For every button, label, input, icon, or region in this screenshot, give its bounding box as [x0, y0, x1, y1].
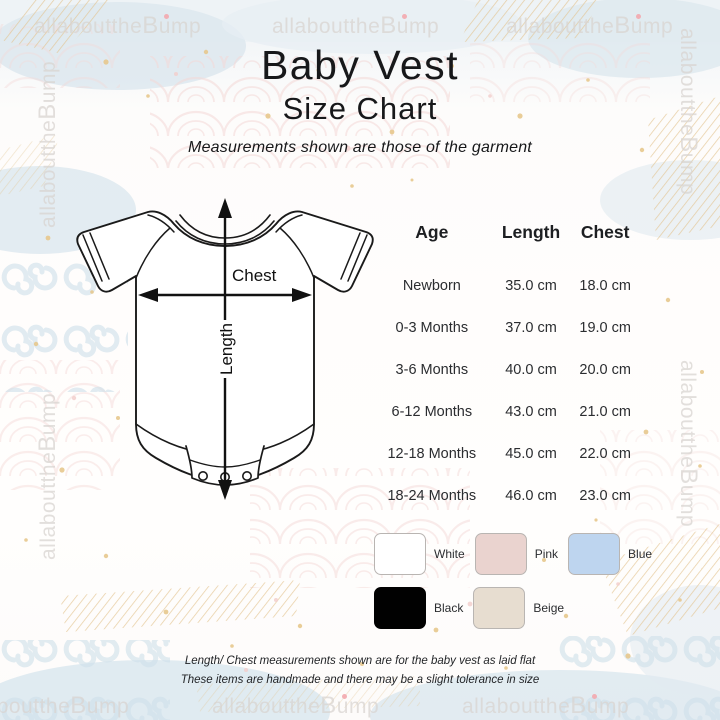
cell-length: 43.0 cm: [492, 391, 571, 433]
cell-length: 46.0 cm: [492, 475, 571, 517]
swatch-blue: Blue: [568, 533, 652, 575]
watermark-bottom-center: allabouttheBump: [212, 692, 379, 720]
vest-diagram: Chest Length: [70, 188, 380, 508]
chart-header: Baby Vest Size Chart Measurements shown …: [0, 44, 720, 157]
measurement-note: Measurements shown are those of the garm…: [0, 139, 720, 157]
swatch-black: Black: [374, 587, 463, 629]
swatch-box-beige: [473, 587, 525, 629]
cell-chest: 23.0 cm: [570, 475, 640, 517]
watermark-heart-icon: [342, 694, 347, 699]
length-label: Length: [216, 320, 238, 378]
cell-chest: 21.0 cm: [570, 391, 640, 433]
cell-chest: 22.0 cm: [570, 433, 640, 475]
watermark-heart-icon: [636, 14, 641, 19]
cell-length: 35.0 cm: [492, 265, 571, 307]
watermark-bottom-right: allabouttheBump: [462, 692, 629, 720]
watermark-top-center: allabouttheBump: [272, 12, 439, 40]
cell-length: 37.0 cm: [492, 307, 571, 349]
cell-length: 45.0 cm: [492, 433, 571, 475]
cell-age: 6-12 Months: [372, 391, 492, 433]
swatch-beige: Beige: [473, 587, 564, 629]
cell-age: 12-18 Months: [372, 433, 492, 475]
watermark-heart-icon: [164, 14, 169, 19]
swatch-box-white: [374, 533, 426, 575]
footer-line-1: Length/ Chest measurements shown are for…: [0, 652, 720, 671]
chest-label: Chest: [232, 266, 276, 286]
column-header-age: Age: [372, 222, 492, 265]
swatch-white: White: [374, 533, 465, 575]
cell-age: 18-24 Months: [372, 475, 492, 517]
swatch-row-2: Black Beige: [374, 587, 674, 629]
column-header-length: Length: [492, 222, 571, 265]
swatch-row-1: White Pink Blue: [374, 533, 674, 575]
swatch-label-white: White: [434, 547, 465, 561]
table-row: 18-24 Months 46.0 cm 23.0 cm: [372, 475, 640, 517]
footer-line-2: These items are handmade and there may b…: [0, 671, 720, 690]
watermark-heart-icon: [402, 14, 407, 19]
swatch-label-pink: Pink: [535, 547, 558, 561]
watermark-top-left: allabouttheBump: [34, 12, 201, 40]
swatch-box-black: [374, 587, 426, 629]
watermark-heart-icon: [592, 694, 597, 699]
colour-swatches: White Pink Blue Black Beige: [374, 533, 674, 641]
table-row: 12-18 Months 45.0 cm 22.0 cm: [372, 433, 640, 475]
table-row: 0-3 Months 37.0 cm 19.0 cm: [372, 307, 640, 349]
size-chart-canvas: allabouttheBump allabouttheBump allabout…: [0, 0, 720, 720]
swatch-label-blue: Blue: [628, 547, 652, 561]
cell-chest: 19.0 cm: [570, 307, 640, 349]
table-header-row: Age Length Chest: [372, 222, 640, 265]
cell-chest: 18.0 cm: [570, 265, 640, 307]
swatch-pink: Pink: [475, 533, 558, 575]
watermark-top-right: allabouttheBump: [506, 12, 673, 40]
cell-length: 40.0 cm: [492, 349, 571, 391]
watermark-left-lower: allabouttheBump: [34, 393, 62, 560]
table-row: 3-6 Months 40.0 cm 20.0 cm: [372, 349, 640, 391]
cell-age: Newborn: [372, 265, 492, 307]
swatch-label-black: Black: [434, 601, 463, 615]
cell-chest: 20.0 cm: [570, 349, 640, 391]
watermark-right-lower: allabouttheBump: [674, 360, 702, 527]
cell-age: 3-6 Months: [372, 349, 492, 391]
swatch-box-blue: [568, 533, 620, 575]
page-subtitle: Size Chart: [0, 93, 720, 126]
page-title: Baby Vest: [0, 44, 720, 87]
table-row: Newborn 35.0 cm 18.0 cm: [372, 265, 640, 307]
cell-age: 0-3 Months: [372, 307, 492, 349]
watermark-bottom-left: allabouttheBump: [0, 692, 129, 720]
column-header-chest: Chest: [570, 222, 640, 265]
swatch-label-beige: Beige: [533, 601, 564, 615]
swatch-box-pink: [475, 533, 527, 575]
footer-disclaimer: Length/ Chest measurements shown are for…: [0, 652, 720, 690]
table-row: 6-12 Months 43.0 cm 21.0 cm: [372, 391, 640, 433]
size-table: Age Length Chest Newborn 35.0 cm 18.0 cm…: [372, 222, 640, 517]
